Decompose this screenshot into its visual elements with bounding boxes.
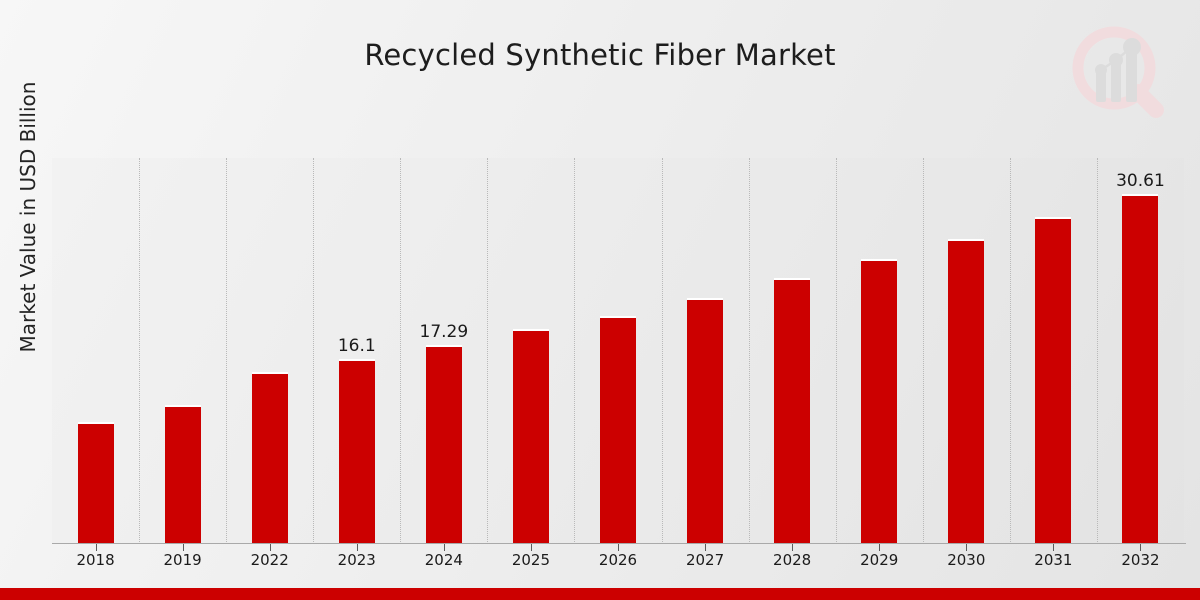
x-axis-label-2031: 2031 bbox=[1008, 551, 1098, 569]
gridline bbox=[226, 158, 227, 544]
bar-cap bbox=[165, 405, 201, 407]
bar-cap bbox=[687, 298, 723, 300]
gridline bbox=[923, 158, 924, 544]
gridline bbox=[662, 158, 663, 544]
x-axis-tick bbox=[879, 544, 880, 551]
x-axis-tick bbox=[531, 544, 532, 551]
bar-value-label-2024: 17.29 bbox=[399, 322, 489, 342]
x-axis-label-2029: 2029 bbox=[834, 551, 924, 569]
gridline bbox=[1097, 158, 1098, 544]
x-axis-label-2024: 2024 bbox=[399, 551, 489, 569]
page-title: Recycled Synthetic Fiber Market bbox=[0, 38, 1200, 72]
gridline bbox=[487, 158, 488, 544]
plot-area bbox=[52, 158, 1184, 544]
bar-2032[interactable] bbox=[1122, 196, 1158, 543]
x-axis-tick bbox=[1140, 544, 1141, 551]
infographic-canvas: Recycled Synthetic Fiber Market Market V… bbox=[0, 0, 1200, 600]
x-axis-label-2030: 2030 bbox=[921, 551, 1011, 569]
gridline bbox=[836, 158, 837, 544]
bar-2030[interactable] bbox=[948, 241, 984, 543]
x-axis-label-2025: 2025 bbox=[486, 551, 576, 569]
bar-2023[interactable] bbox=[339, 361, 375, 543]
x-axis-line bbox=[52, 543, 1186, 544]
bar-value-label-2032: 30.61 bbox=[1095, 171, 1185, 191]
x-axis-tick bbox=[183, 544, 184, 551]
market-research-logo-icon bbox=[1066, 20, 1172, 126]
bar-cap bbox=[78, 422, 114, 424]
bar-cap bbox=[948, 239, 984, 241]
x-axis-tick bbox=[618, 544, 619, 551]
bar-cap bbox=[1035, 217, 1071, 219]
x-axis-tick bbox=[444, 544, 445, 551]
bar-2022[interactable] bbox=[252, 374, 288, 543]
bar-cap bbox=[339, 359, 375, 361]
bar-value-label-2023: 16.1 bbox=[312, 336, 402, 356]
gridline bbox=[574, 158, 575, 544]
bar-cap bbox=[513, 329, 549, 331]
gridline bbox=[1010, 158, 1011, 544]
bar-2018[interactable] bbox=[78, 424, 114, 543]
bar-2029[interactable] bbox=[861, 261, 897, 543]
gridline bbox=[749, 158, 750, 544]
x-axis-label-2019: 2019 bbox=[138, 551, 228, 569]
bar-2019[interactable] bbox=[165, 407, 201, 543]
x-axis-tick bbox=[966, 544, 967, 551]
bar-2024[interactable] bbox=[426, 347, 462, 543]
bar-cap bbox=[426, 345, 462, 347]
x-axis-label-2018: 2018 bbox=[51, 551, 141, 569]
bar-2031[interactable] bbox=[1035, 219, 1071, 543]
bar-cap bbox=[252, 372, 288, 374]
bar-2028[interactable] bbox=[774, 280, 810, 543]
bar-cap bbox=[600, 316, 636, 318]
x-axis-label-2032: 2032 bbox=[1095, 551, 1185, 569]
bar-2027[interactable] bbox=[687, 300, 723, 543]
x-axis-label-2022: 2022 bbox=[225, 551, 315, 569]
x-axis-tick bbox=[1053, 544, 1054, 551]
x-axis-tick bbox=[357, 544, 358, 551]
x-axis-label-2026: 2026 bbox=[573, 551, 663, 569]
bottom-accent-bar bbox=[0, 588, 1200, 600]
x-axis-label-2023: 2023 bbox=[312, 551, 402, 569]
bar-cap bbox=[861, 259, 897, 261]
gridline bbox=[139, 158, 140, 544]
x-axis-tick bbox=[270, 544, 271, 551]
x-axis-tick bbox=[96, 544, 97, 551]
x-axis-tick bbox=[705, 544, 706, 551]
x-axis-tick bbox=[792, 544, 793, 551]
bar-2025[interactable] bbox=[513, 331, 549, 543]
bar-cap bbox=[1122, 194, 1158, 196]
bar-2026[interactable] bbox=[600, 318, 636, 543]
x-axis-label-2028: 2028 bbox=[747, 551, 837, 569]
bar-cap bbox=[774, 278, 810, 280]
y-axis-title: Market Value in USD Billion bbox=[16, 17, 40, 417]
x-axis-label-2027: 2027 bbox=[660, 551, 750, 569]
